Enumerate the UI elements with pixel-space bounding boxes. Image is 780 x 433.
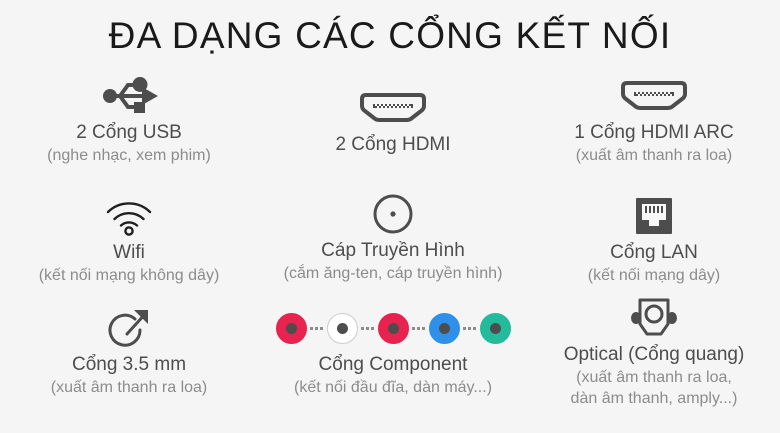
port-label: 2 Cổng USB bbox=[0, 120, 258, 145]
port-label: Cổng 3.5 mm bbox=[0, 352, 258, 377]
port-sublabel-line2: dàn âm thanh, amply...) bbox=[528, 388, 780, 409]
rca-separator-dots bbox=[307, 326, 327, 330]
port-label: 2 Cổng HDMI bbox=[262, 132, 524, 157]
port-item-audio-jack: Cổng 3.5 mm (xuất âm thanh ra loa) bbox=[0, 304, 258, 398]
port-sublabel: (nghe nhạc, xem phim) bbox=[0, 145, 258, 166]
usb-icon bbox=[0, 72, 258, 120]
rca-core bbox=[388, 323, 399, 334]
rca-core bbox=[337, 323, 348, 334]
rca-core bbox=[439, 323, 450, 334]
port-label: 1 Cổng HDMI ARC bbox=[528, 120, 780, 145]
port-sublabel: (xuất âm thanh ra loa, dàn âm thanh, amp… bbox=[528, 367, 780, 409]
lan-rj45-icon bbox=[528, 192, 780, 240]
port-label: Cáp Truyền Hình bbox=[262, 238, 524, 263]
port-item-optical: Optical (Cổng quang) (xuất âm thanh ra l… bbox=[528, 294, 780, 409]
white-rca bbox=[327, 313, 358, 344]
wifi-icon bbox=[0, 192, 258, 240]
port-sublabel-line1: (kết nối mạng không dây) bbox=[39, 267, 220, 284]
rca-separator-dots bbox=[409, 326, 429, 330]
port-item-lan: Cổng LAN (kết nối mạng dây) bbox=[528, 192, 780, 286]
hdmi-port-icon bbox=[262, 84, 524, 132]
port-item-component: Cổng Component (kết nối đầu đĩa, dàn máy… bbox=[262, 304, 524, 398]
port-item-hdmi: 2 Cổng HDMI bbox=[262, 84, 524, 157]
port-label: Wifi bbox=[0, 240, 258, 265]
page-title: ĐA DẠNG CÁC CỔNG KẾT NỐI bbox=[0, 14, 780, 58]
port-sublabel-line1: (xuất âm thanh ra loa) bbox=[51, 379, 208, 396]
rca-core bbox=[490, 323, 501, 334]
connectivity-infographic: ĐA DẠNG CÁC CỔNG KẾT NỐI 2 Cổng US bbox=[0, 0, 780, 433]
component-rca-icon bbox=[262, 304, 524, 352]
port-sublabel: (kết nối đầu đĩa, dàn máy...) bbox=[262, 377, 524, 398]
audio-jack-arrow-icon bbox=[0, 304, 258, 352]
port-sublabel: (xuất âm thanh ra loa) bbox=[0, 377, 258, 398]
port-sublabel-line1: (xuất âm thanh ra loa) bbox=[576, 147, 733, 164]
port-sublabel: (kết nối mạng không dây) bbox=[0, 265, 258, 286]
port-sublabel: (kết nối mạng dây) bbox=[528, 265, 780, 286]
port-sublabel: (xuất âm thanh ra loa) bbox=[528, 145, 780, 166]
green-rca bbox=[480, 313, 511, 344]
optical-toslink-icon bbox=[528, 294, 780, 342]
port-label: Cổng LAN bbox=[528, 240, 780, 265]
coaxial-antenna-icon bbox=[262, 190, 524, 238]
port-item-hdmi-arc: 1 Cổng HDMI ARC (xuất âm thanh ra loa) bbox=[528, 72, 780, 166]
red-rca bbox=[276, 313, 307, 344]
port-sublabel: (cắm ăng-ten, cáp truyền hình) bbox=[262, 263, 524, 284]
port-item-wifi: Wifi (kết nối mạng không dây) bbox=[0, 192, 258, 286]
port-item-coaxial: Cáp Truyền Hình (cắm ăng-ten, cáp truyền… bbox=[262, 190, 524, 284]
rca-separator-dots bbox=[460, 326, 480, 330]
ports-grid: 2 Cổng USB (nghe nhạc, xem phim) bbox=[0, 72, 780, 433]
port-sublabel-line1: (cắm ăng-ten, cáp truyền hình) bbox=[284, 265, 503, 282]
hdmi-arc-port-icon bbox=[528, 72, 780, 120]
rca-core bbox=[286, 323, 297, 334]
port-sublabel-line1: (xuất âm thanh ra loa, bbox=[576, 369, 732, 386]
port-sublabel-line1: (kết nối mạng dây) bbox=[588, 267, 721, 284]
red-rca bbox=[378, 313, 409, 344]
blue-rca bbox=[429, 313, 460, 344]
port-item-usb: 2 Cổng USB (nghe nhạc, xem phim) bbox=[0, 72, 258, 166]
rca-separator-dots bbox=[358, 326, 378, 330]
port-sublabel-line1: (kết nối đầu đĩa, dàn máy...) bbox=[294, 379, 492, 396]
port-label: Optical (Cổng quang) bbox=[528, 342, 780, 367]
port-label: Cổng Component bbox=[262, 352, 524, 377]
port-sublabel-line1: (nghe nhạc, xem phim) bbox=[47, 147, 211, 164]
